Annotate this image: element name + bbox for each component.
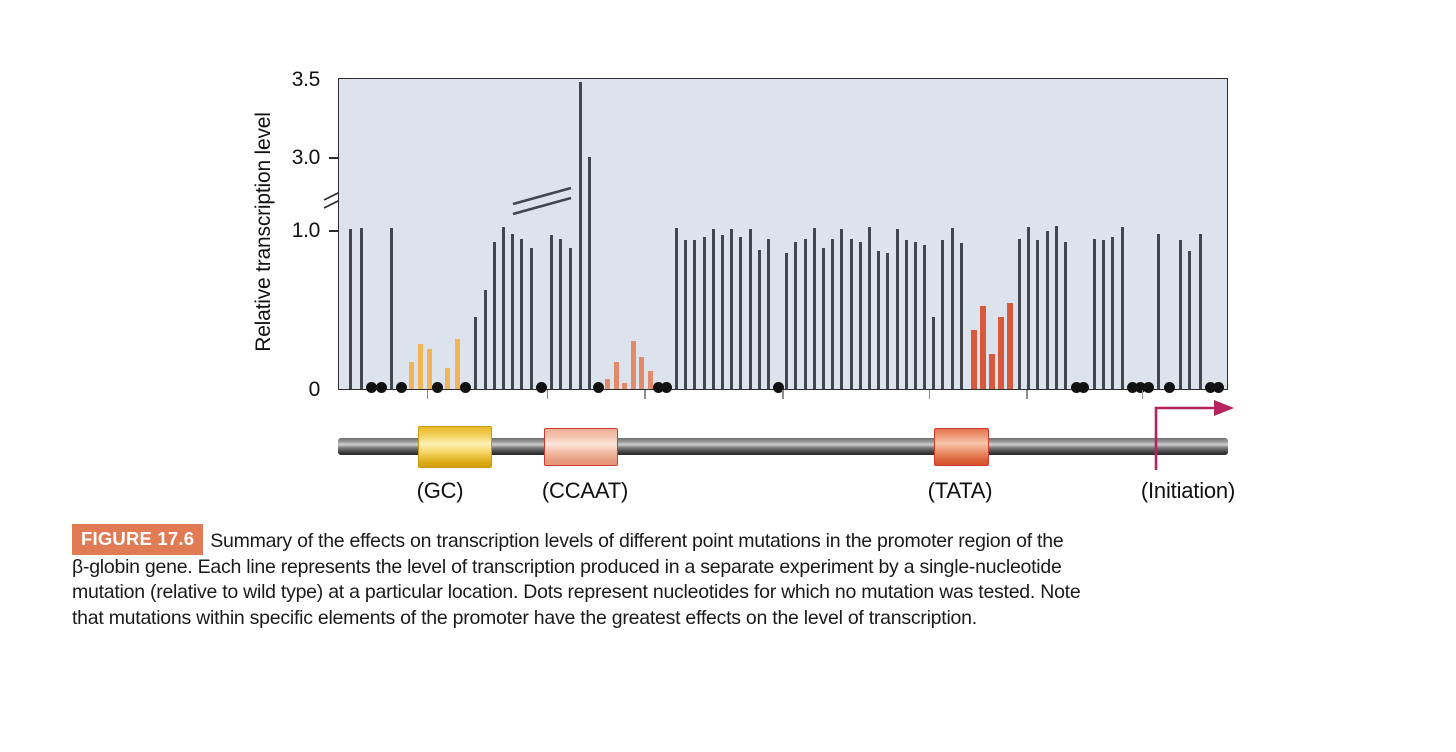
x-axis-tick xyxy=(1142,390,1144,399)
promoter-element-ccaat xyxy=(544,428,618,466)
transcription-bar xyxy=(1188,251,1191,389)
tall-bar-break-icon xyxy=(509,176,579,222)
x-axis-tick xyxy=(782,390,784,399)
transcription-bar xyxy=(493,242,496,389)
transcription-bar xyxy=(1102,240,1105,389)
transcription-bar xyxy=(550,235,553,389)
transcription-bar xyxy=(721,235,724,389)
x-axis-tick xyxy=(547,390,549,399)
transcription-bar xyxy=(1199,234,1202,389)
x-axis-tick xyxy=(929,390,931,399)
transcription-bar xyxy=(941,240,944,389)
transcription-bar xyxy=(971,330,977,389)
transcription-bar xyxy=(998,317,1004,389)
transcription-bar xyxy=(1027,227,1030,389)
transcription-bar xyxy=(730,229,733,389)
transcription-bar xyxy=(951,228,954,389)
transcription-bar xyxy=(502,227,505,389)
transcription-bar xyxy=(758,250,761,389)
transcription-bar xyxy=(622,383,627,389)
transcription-bar xyxy=(703,237,706,389)
transcription-bar xyxy=(530,248,533,389)
transcription-bar xyxy=(579,82,582,389)
transcription-bar xyxy=(1111,237,1114,389)
transcription-bar xyxy=(614,362,619,389)
transcription-bar xyxy=(960,243,963,389)
untested-nucleotide-dot xyxy=(1164,382,1175,393)
figure-number-badge: FIGURE 17.6 xyxy=(72,524,203,555)
transcription-bar xyxy=(1007,303,1013,389)
promoter-label-ccaat: (CCAAT) xyxy=(505,478,665,504)
untested-nucleotide-dot xyxy=(460,382,471,393)
transcription-bar xyxy=(605,379,610,389)
transcription-bar xyxy=(474,317,477,389)
transcription-bar xyxy=(905,240,908,389)
untested-nucleotide-dot xyxy=(661,382,672,393)
untested-nucleotide-dot xyxy=(432,382,443,393)
transcription-bar xyxy=(989,354,995,389)
transcription-bar xyxy=(390,228,393,389)
y-tick-mark-1-0 xyxy=(329,230,338,232)
initiation-arrow-icon xyxy=(1148,396,1240,474)
transcription-bar xyxy=(739,237,742,389)
y-tick-label-1-0: 1.0 xyxy=(246,219,320,243)
x-axis-tick xyxy=(644,390,646,399)
transcription-bar xyxy=(1121,227,1124,389)
figure-caption-text: Summary of the effects on transcription … xyxy=(72,530,1080,629)
promoter-label-tata: (TATA) xyxy=(890,478,1030,504)
transcription-bar xyxy=(712,229,715,389)
transcription-bar xyxy=(511,234,514,389)
transcription-bar xyxy=(804,239,807,389)
transcription-bar xyxy=(877,251,880,389)
transcription-bar xyxy=(932,317,935,389)
figure-caption: FIGURE 17.6Summary of the effects on tra… xyxy=(72,524,1082,631)
transcription-bar xyxy=(785,253,788,389)
figure-root: Relative transcription level 3.5 3.0 1.0… xyxy=(0,0,1456,752)
transcription-bar xyxy=(914,242,917,389)
untested-nucleotide-dot xyxy=(1078,382,1089,393)
transcription-bar xyxy=(569,248,572,389)
promoter-element-gc xyxy=(418,426,492,468)
transcription-bar xyxy=(1036,240,1039,389)
transcription-bar xyxy=(675,228,678,389)
transcription-bar xyxy=(813,228,816,389)
promoter-label-gc: (GC) xyxy=(380,478,500,504)
transcription-bar xyxy=(1055,226,1058,389)
transcription-bar xyxy=(1093,239,1096,389)
promoter-element-tata xyxy=(934,428,989,466)
transcription-bar xyxy=(684,240,687,389)
transcription-bar xyxy=(886,253,889,389)
transcription-bar xyxy=(868,227,871,389)
transcription-bar xyxy=(631,341,636,389)
untested-nucleotide-dot xyxy=(376,382,387,393)
transcription-bar xyxy=(455,339,460,389)
transcription-bar xyxy=(749,229,752,389)
transcription-bar xyxy=(850,239,853,389)
untested-nucleotide-dot xyxy=(1143,382,1154,393)
transcription-bar xyxy=(794,242,797,389)
transcription-bar xyxy=(1157,234,1160,389)
transcription-bar xyxy=(409,362,414,389)
transcription-bar xyxy=(1046,231,1049,389)
transcription-level-chart: Relative transcription level 3.5 3.0 1.0… xyxy=(0,0,1456,515)
transcription-bar xyxy=(822,248,825,389)
gene-promoter-diagram xyxy=(338,424,1228,470)
untested-nucleotide-dot xyxy=(593,382,604,393)
transcription-bar xyxy=(1179,240,1182,389)
transcription-bar xyxy=(588,157,591,389)
y-tick-label-3-5: 3.5 xyxy=(246,68,320,92)
transcription-bar xyxy=(445,368,450,389)
transcription-bar xyxy=(520,239,523,389)
transcription-bar xyxy=(1018,239,1021,389)
transcription-bar xyxy=(923,245,926,389)
promoter-label-initiation: (Initiation) xyxy=(1098,478,1278,504)
transcription-bar xyxy=(427,349,432,389)
transcription-bar xyxy=(639,357,644,389)
transcription-bar xyxy=(1064,242,1067,389)
plot-area xyxy=(338,78,1228,390)
transcription-bar xyxy=(360,228,363,389)
transcription-bar xyxy=(349,229,352,389)
transcription-bar xyxy=(648,371,653,389)
transcription-bar xyxy=(859,242,862,389)
transcription-bar xyxy=(484,290,487,389)
transcription-bar xyxy=(559,239,562,389)
transcription-bar xyxy=(418,344,423,389)
y-tick-mark-3-0 xyxy=(329,157,338,159)
untested-nucleotide-dot xyxy=(1213,382,1224,393)
y-tick-label-0: 0 xyxy=(246,378,320,402)
transcription-bar xyxy=(831,239,834,389)
transcription-bar xyxy=(980,306,986,389)
x-axis-tick xyxy=(427,390,429,399)
untested-nucleotide-dot xyxy=(396,382,407,393)
y-tick-label-3-0: 3.0 xyxy=(246,146,320,170)
x-axis-tick xyxy=(1026,390,1028,399)
transcription-bar xyxy=(693,240,696,389)
transcription-bar xyxy=(767,239,770,389)
transcription-bar xyxy=(896,229,899,389)
transcription-bar xyxy=(840,229,843,389)
